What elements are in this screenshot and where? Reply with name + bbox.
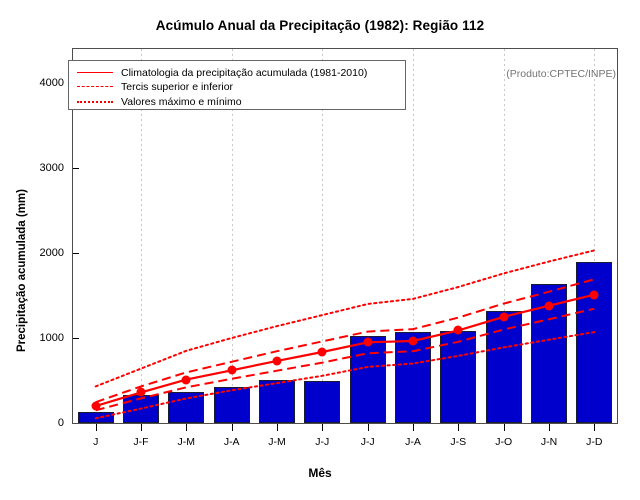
x-tick-mark bbox=[413, 424, 414, 431]
data-point-marker bbox=[318, 348, 327, 357]
legend-solid-line-icon bbox=[75, 67, 115, 79]
x-tick-mark bbox=[549, 424, 550, 431]
x-tick-mark bbox=[96, 424, 97, 431]
page-title: Acúmulo Anual da Precipitação (1982): Re… bbox=[0, 18, 640, 33]
x-tick-mark bbox=[141, 424, 142, 431]
data-point-marker bbox=[409, 337, 418, 346]
legend-dashed-line-icon bbox=[75, 81, 115, 93]
x-axis-label: Mês bbox=[0, 466, 640, 480]
data-point-marker bbox=[273, 356, 282, 365]
x-tick-label: J-D bbox=[586, 436, 602, 448]
data-point-marker bbox=[91, 402, 100, 411]
x-tick-mark bbox=[368, 424, 369, 431]
y-tick-mark bbox=[73, 168, 79, 169]
data-point-marker bbox=[182, 375, 191, 384]
data-point-marker bbox=[454, 326, 463, 335]
data-point-marker bbox=[363, 338, 372, 347]
legend-dotted-line-icon bbox=[75, 96, 115, 108]
legend-label: Climatologia da precipitação acumulada (… bbox=[121, 67, 367, 79]
x-tick-label: J bbox=[93, 436, 98, 448]
y-axis-label: Precipitação acumulada (mm) bbox=[16, 189, 28, 352]
x-tick-mark bbox=[232, 424, 233, 431]
series-line bbox=[96, 250, 595, 386]
chart-page: Acúmulo Anual da Precipitação (1982): Re… bbox=[0, 0, 640, 500]
x-tick-label: J-M bbox=[268, 436, 286, 448]
series-line bbox=[96, 332, 595, 418]
x-tick-label: J-S bbox=[450, 436, 466, 448]
legend-item-max-min: Valores máximo e mínimo bbox=[75, 95, 399, 109]
y-tick-label: 0 bbox=[20, 417, 64, 429]
x-tick-label: J-F bbox=[133, 436, 148, 448]
x-tick-mark bbox=[504, 424, 505, 431]
series-line bbox=[96, 309, 595, 411]
y-tick-label: 2000 bbox=[20, 247, 64, 259]
x-tick-label: J-N bbox=[541, 436, 557, 448]
data-point-marker bbox=[227, 366, 236, 375]
y-tick-label: 4000 bbox=[20, 77, 64, 89]
data-point-marker bbox=[499, 312, 508, 321]
legend-label: Valores máximo e mínimo bbox=[121, 96, 242, 108]
x-tick-mark bbox=[322, 424, 323, 431]
y-tick-mark bbox=[73, 338, 79, 339]
data-point-marker bbox=[590, 290, 599, 299]
source-note: (Produto:CPTEC/INPE) bbox=[506, 68, 616, 80]
y-tick-label: 3000 bbox=[20, 162, 64, 174]
x-tick-label: J-A bbox=[224, 436, 240, 448]
x-tick-label: J-M bbox=[178, 436, 196, 448]
x-tick-mark bbox=[458, 424, 459, 431]
legend-label: Tercis superior e inferior bbox=[121, 81, 233, 93]
legend-item-tercis: Tercis superior e inferior bbox=[75, 81, 399, 95]
y-tick-mark bbox=[73, 253, 79, 254]
y-tick-label: 1000 bbox=[20, 332, 64, 344]
x-tick-label: J-O bbox=[495, 436, 512, 448]
x-tick-label: J-J bbox=[315, 436, 329, 448]
x-tick-label: J-A bbox=[405, 436, 421, 448]
legend: Climatologia da precipitação acumulada (… bbox=[68, 60, 406, 110]
x-tick-mark bbox=[186, 424, 187, 431]
data-point-marker bbox=[545, 301, 554, 310]
x-tick-label: J-J bbox=[361, 436, 375, 448]
legend-item-climatologia: Climatologia da precipitação acumulada (… bbox=[75, 66, 399, 80]
x-tick-mark bbox=[277, 424, 278, 431]
x-tick-mark bbox=[594, 424, 595, 431]
data-point-marker bbox=[137, 388, 146, 397]
series-line bbox=[96, 295, 595, 406]
